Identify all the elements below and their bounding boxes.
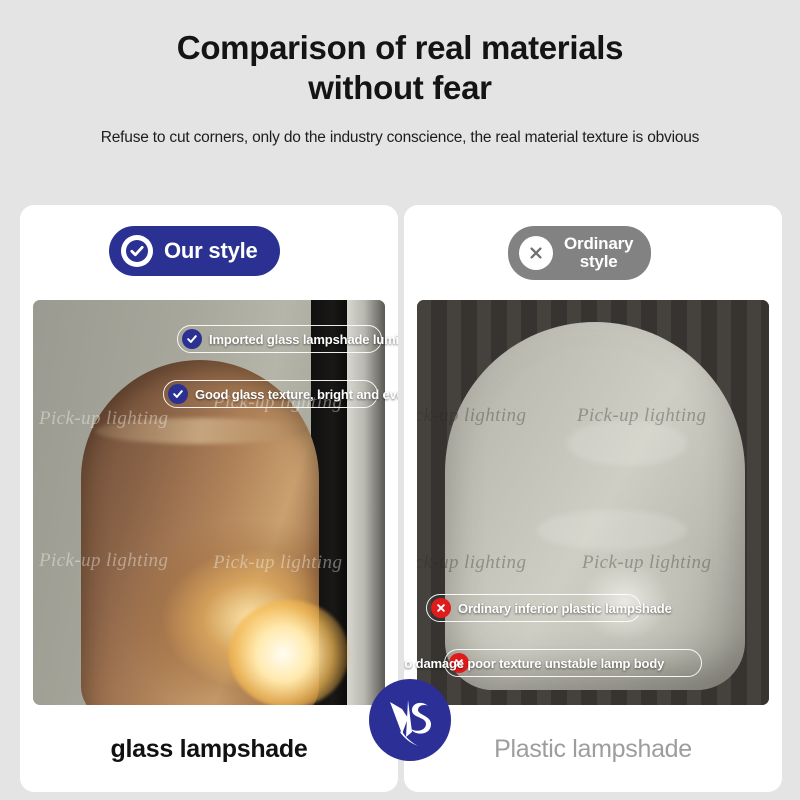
x-circle-icon [519, 236, 553, 270]
feature-pill: Good glass texture, bright and even [163, 380, 378, 408]
x-circle-icon [431, 598, 451, 618]
check-circle-icon [168, 384, 188, 404]
page-title-line2: without fear [308, 69, 491, 106]
photo-right-strip [347, 300, 385, 705]
lamp-glow [229, 600, 349, 705]
check-circle-icon [182, 329, 202, 349]
comparison-card-our-style: Pick-up lighting Pick-up lighting Pick-u… [20, 205, 398, 792]
feature-pill-label: Good glass texture, bright and even [195, 387, 398, 402]
feature-pill: Easy to damage poor texture unstable lam… [444, 649, 702, 677]
style-badge-label: Ordinary style [564, 235, 633, 271]
feature-pill-label: Ordinary inferior plastic lampshade [458, 601, 672, 616]
comparison-panels: Pick-up lighting Pick-up lighting Pick-u… [0, 205, 800, 795]
plastic-crease [537, 510, 687, 550]
product-caption: glass lampshade [20, 735, 398, 764]
page-title-line1: Comparison of real materials [177, 29, 623, 66]
vs-icon [378, 688, 442, 752]
page-title: Comparison of real materials without fea… [0, 0, 800, 109]
comparison-card-ordinary-style: Pick-up lighting Pick-up lighting Pick-u… [404, 205, 782, 792]
feature-pill-label: Easy to damage poor texture unstable lam… [404, 656, 664, 671]
feature-pill-label: Imported glass lampshade luminous evenly [209, 332, 398, 347]
product-photo-glass-lampshade: Pick-up lighting Pick-up lighting Pick-u… [33, 300, 385, 705]
style-badge-our-style: Our style [109, 226, 280, 276]
page-header: Comparison of real materials without fea… [0, 0, 800, 185]
vs-badge [369, 679, 451, 761]
product-caption: Plastic lampshade [404, 735, 782, 764]
page-subtitle: Refuse to cut corners, only do the indus… [0, 109, 800, 147]
product-photo-plastic-lampshade: Pick-up lighting Pick-up lighting Pick-u… [417, 300, 769, 705]
feature-pill: Ordinary inferior plastic lampshade [426, 594, 641, 622]
feature-pill: Imported glass lampshade luminous evenly [177, 325, 382, 353]
plastic-crease [567, 420, 687, 466]
check-circle-icon [121, 235, 153, 267]
style-badge-ordinary-style: Ordinary style [508, 226, 651, 280]
glass-highlight-band [95, 418, 307, 444]
style-badge-label: Our style [164, 239, 258, 262]
plastic-lampshade-object [445, 322, 745, 690]
